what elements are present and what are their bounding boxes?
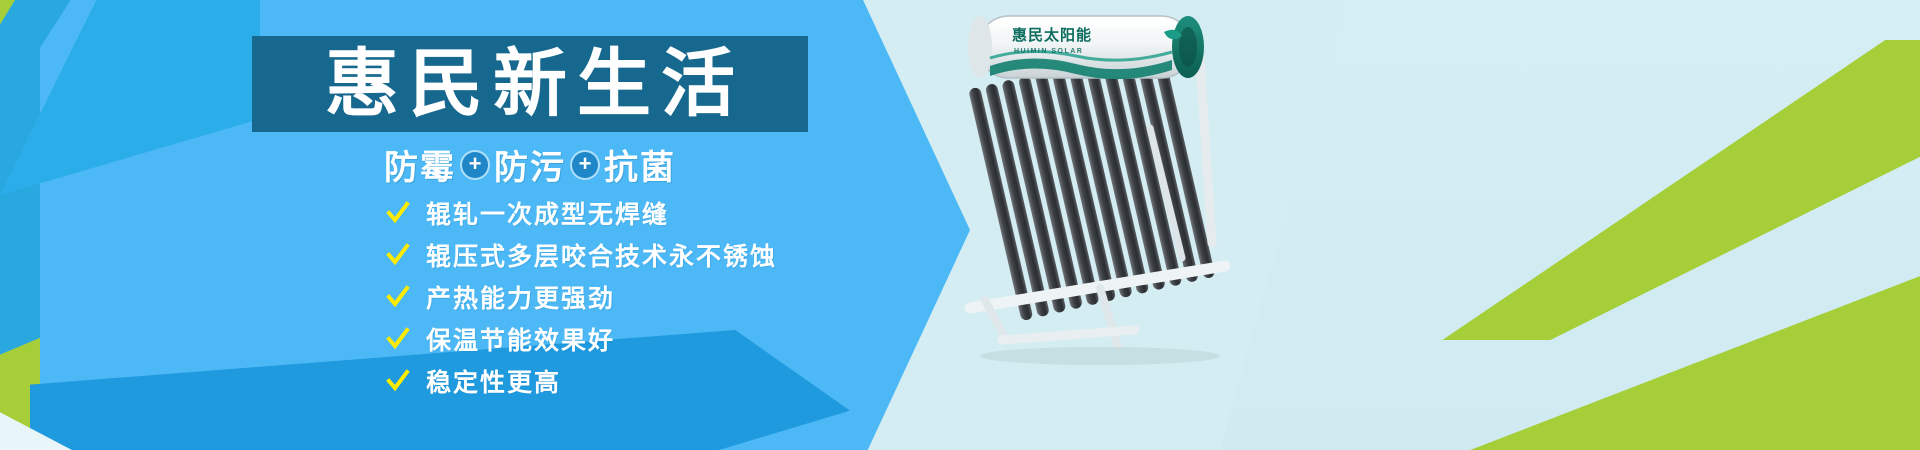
feature-item: 产热能力更强劲	[386, 280, 777, 314]
product-shadow	[980, 347, 1220, 365]
feature-label: 保温节能效果好	[426, 321, 615, 357]
solar-water-heater-image: 惠民太阳能 HUIMIN SOLAR	[950, 8, 1270, 368]
feature-list: 辊轧一次成型无焊缝 辊压式多层咬合技术永不锈蚀 产热能力更强劲 保温节能效果好	[386, 196, 777, 398]
check-icon	[386, 369, 410, 393]
check-icon	[386, 201, 410, 225]
solar-heater-svg: 惠民太阳能 HUIMIN SOLAR	[950, 8, 1270, 368]
evacuated-tubes	[968, 45, 1215, 322]
storage-tank: 惠民太阳能 HUIMIN SOLAR	[968, 16, 1204, 79]
subtitle-word-3: 抗菌	[604, 140, 676, 189]
check-icon	[386, 327, 410, 351]
feature-label: 产热能力更强劲	[426, 279, 615, 315]
subtitle-row: 防霉 + 防污 + 抗菌	[252, 140, 808, 189]
headline-block: 惠民新生活	[252, 36, 808, 132]
feature-label: 辊轧一次成型无焊缝	[426, 195, 669, 231]
check-icon	[386, 243, 410, 267]
feature-label: 稳定性更高	[426, 363, 561, 399]
feature-item: 辊压式多层咬合技术永不锈蚀	[386, 238, 777, 272]
plus-icon-2: +	[572, 152, 598, 178]
subtitle-word-2: 防污	[494, 140, 566, 189]
plus-icon-1: +	[462, 152, 488, 178]
feature-item: 保温节能效果好	[386, 322, 777, 356]
tank-brand-text: 惠民太阳能	[1012, 26, 1092, 44]
feature-label: 辊压式多层咬合技术永不锈蚀	[426, 237, 777, 273]
headline-text: 惠民新生活	[315, 47, 745, 121]
feature-item: 辊轧一次成型无焊缝	[386, 196, 777, 230]
subtitle-word-1: 防霉	[384, 140, 456, 189]
tank-tagline-text: HUIMIN SOLAR	[1014, 48, 1083, 55]
promo-banner: 惠民新生活 防霉 + 防污 + 抗菌 辊轧一次成型无焊缝 辊压式多层咬合技术永不…	[0, 0, 1920, 450]
feature-item: 稳定性更高	[386, 364, 777, 398]
check-icon	[386, 285, 410, 309]
